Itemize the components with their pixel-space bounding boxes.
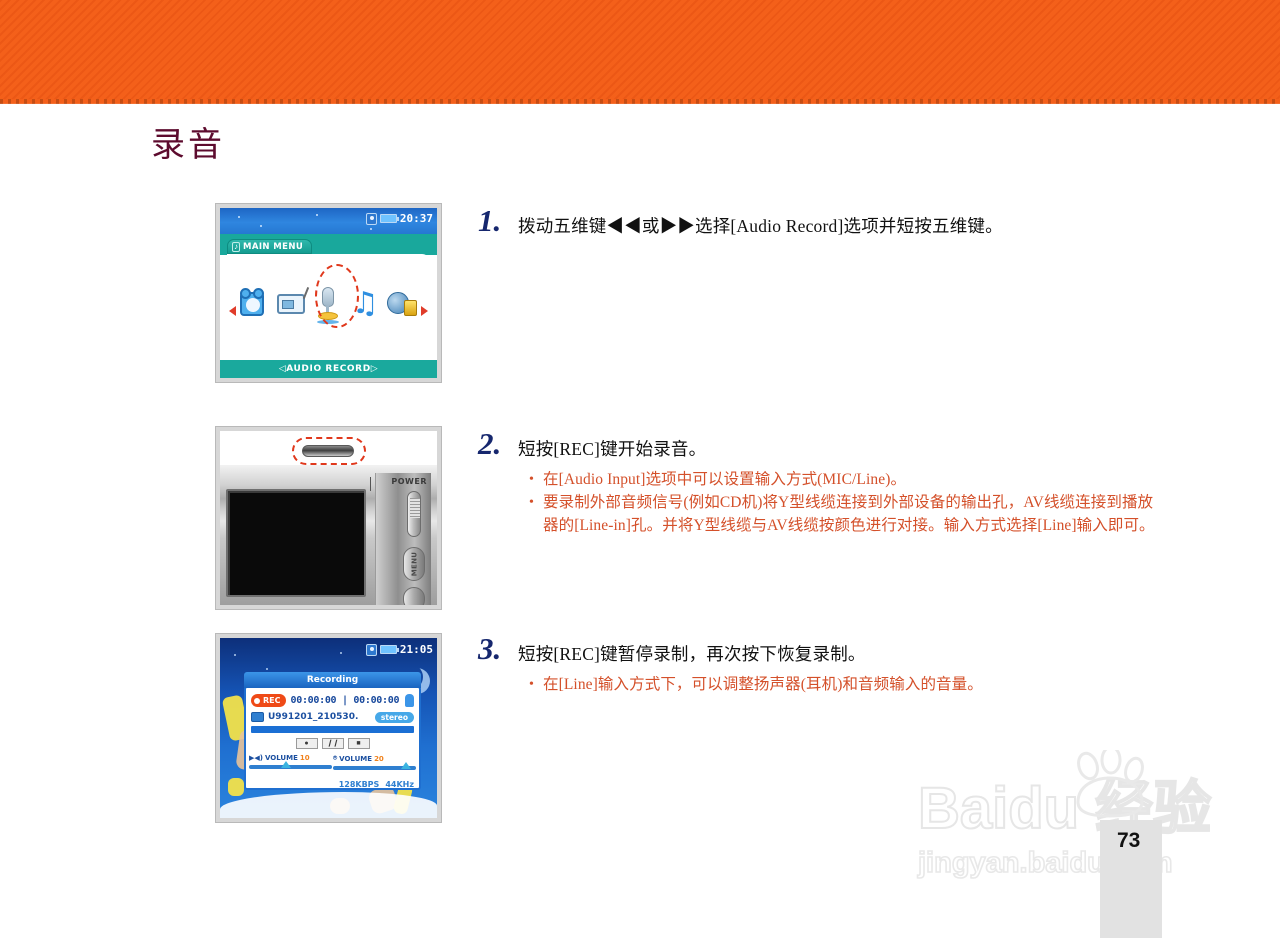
mic-volume-control[interactable]: ⌾ VOLUME 20: [333, 754, 416, 770]
snow-decoration: [220, 792, 437, 818]
mic-volume-slider[interactable]: [333, 766, 416, 770]
step-2-bullets: 在[Audio Input]选项中可以设置输入方式(MIC/Line)。 要录制…: [528, 468, 1168, 537]
rec-status-badge: REC: [251, 694, 286, 707]
power-pointer-line: [370, 477, 371, 491]
speaker-volume-thumb[interactable]: [281, 761, 291, 768]
status-bar: 20:37: [220, 208, 437, 234]
alarm-clock-icon[interactable]: [240, 292, 264, 316]
lcd-main-menu: 20:37 ♪ MAIN MENU ♫: [220, 208, 437, 378]
watermark-main-text: Baidu 经验: [918, 780, 1211, 838]
lcd-recording: 21:05 Recording REC 00:00:00 | 00:00:00 …: [220, 638, 437, 818]
record-button[interactable]: ●: [296, 738, 318, 749]
power-button[interactable]: [407, 491, 421, 537]
step-2-text: 短按[REC]键开始录音。: [518, 427, 706, 464]
status-bar: 21:05: [366, 643, 433, 656]
list-item: 在[Line]输入方式下，可以调整扬声器(耳机)和音频输入的音量。: [528, 673, 1168, 696]
recording-dialog: Recording REC 00:00:00 | 00:00:00 U99120…: [244, 686, 421, 790]
recording-progress-bar: [251, 726, 414, 733]
status-clock: 21:05: [400, 643, 433, 656]
speaker-volume-control[interactable]: ▶◀) VOLUME 10: [249, 754, 332, 769]
recording-dialog-titlebar: Recording: [244, 672, 421, 688]
lock-icon: [366, 213, 377, 225]
menu-footer-bar: ◁AUDIO RECORD▷: [220, 360, 437, 378]
list-item: 在[Audio Input]选项中可以设置输入方式(MIC/Line)。: [528, 468, 1168, 491]
samplerate-label: 44KHz: [385, 780, 414, 789]
battery-icon: [380, 214, 397, 223]
microphone-icon: [405, 694, 414, 707]
audio-format-info: 128KBPS 44KHz: [246, 780, 419, 789]
speaker-icon: ▶◀): [249, 754, 263, 762]
step-2: 2. 短按[REC]键开始录音。 在[Audio Input]选项中可以设置输入…: [478, 427, 1168, 537]
note-icon: ♪: [232, 242, 240, 252]
step-2-number: 2.: [478, 427, 518, 461]
recording-timer: 00:00:00 | 00:00:00: [291, 695, 400, 706]
stop-button[interactable]: ■: [348, 738, 370, 749]
menu-canvas: ♫: [227, 254, 430, 354]
device-photo: POWER MENU: [220, 431, 437, 605]
baidu-watermark: Baidu 经验 jingyan.baidu.com: [918, 756, 1218, 886]
list-item: 要录制外部音频信号(例如CD机)将Y型线缆连接到外部设备的输出孔，AV线缆连接到…: [528, 491, 1168, 537]
file-icon: [251, 712, 264, 722]
figure-recording-screen: 21:05 Recording REC 00:00:00 | 00:00:00 …: [215, 633, 442, 823]
device-side-panel: [375, 473, 431, 605]
step-3-number: 3.: [478, 632, 518, 666]
battery-icon: [380, 645, 397, 654]
step-1-number: 1.: [478, 204, 518, 238]
speaker-volume-slider[interactable]: [249, 765, 332, 769]
menu-footer-label: ◁AUDIO RECORD▷: [279, 364, 379, 374]
page-number: 73: [1117, 829, 1140, 853]
page-title: 录音: [151, 124, 225, 168]
main-menu-tab-label: MAIN MENU: [243, 242, 303, 252]
mic-volume-thumb[interactable]: [401, 762, 411, 769]
pause-button[interactable]: ❙❙: [322, 738, 344, 749]
paw-print-icon: [1066, 750, 1156, 820]
menu-button-label: MENU: [410, 552, 418, 577]
mic-small-icon: ⌾: [333, 754, 337, 763]
figure-main-menu-screen: 20:37 ♪ MAIN MENU ♫: [215, 203, 442, 383]
step-3-bullets: 在[Line]输入方式下，可以调整扬声器(耳机)和音频输入的音量。: [528, 673, 1168, 696]
stereo-badge: stereo: [375, 712, 414, 723]
power-label: POWER: [391, 477, 427, 486]
selection-highlight-oval: [315, 264, 359, 328]
step-3-text: 短按[REC]键暂停录制，再次按下恢复录制。: [518, 632, 866, 669]
mic-volume-value: 20: [374, 755, 384, 763]
transport-controls: ● ❙❙ ■: [246, 738, 419, 749]
menu-button[interactable]: MENU: [403, 547, 425, 581]
figure-device-photo: POWER MENU: [215, 426, 442, 610]
step-1-text: 拨动五维键◀◀或▶▶选择[Audio Record]选项并短按五维键。: [518, 204, 1003, 241]
bitrate-label: 128KBPS: [339, 780, 380, 789]
step-1: 1. 拨动五维键◀◀或▶▶选择[Audio Record]选项并短按五维键。: [478, 204, 1168, 241]
lock-icon: [366, 644, 377, 656]
film-reel-icon[interactable]: [387, 292, 417, 316]
recording-filename: U991201_210530.: [268, 712, 358, 722]
main-menu-tab[interactable]: ♪ MAIN MENU: [227, 239, 312, 254]
status-clock: 20:37: [400, 212, 433, 225]
device-screen: [226, 489, 366, 597]
speaker-volume-value: 10: [300, 754, 310, 762]
rec-badge-label: REC: [263, 696, 281, 705]
step-3: 3. 短按[REC]键暂停录制，再次按下恢复录制。 在[Line]输入方式下，可…: [478, 632, 1168, 696]
radio-icon[interactable]: [277, 294, 305, 314]
extra-button[interactable]: [403, 587, 425, 605]
rec-button-highlight: [292, 437, 366, 465]
mic-volume-label: VOLUME: [339, 755, 372, 763]
top-orange-banner: [0, 0, 1280, 103]
banner-dotted-edge: [0, 99, 1280, 104]
recording-dialog-title: Recording: [307, 675, 358, 685]
